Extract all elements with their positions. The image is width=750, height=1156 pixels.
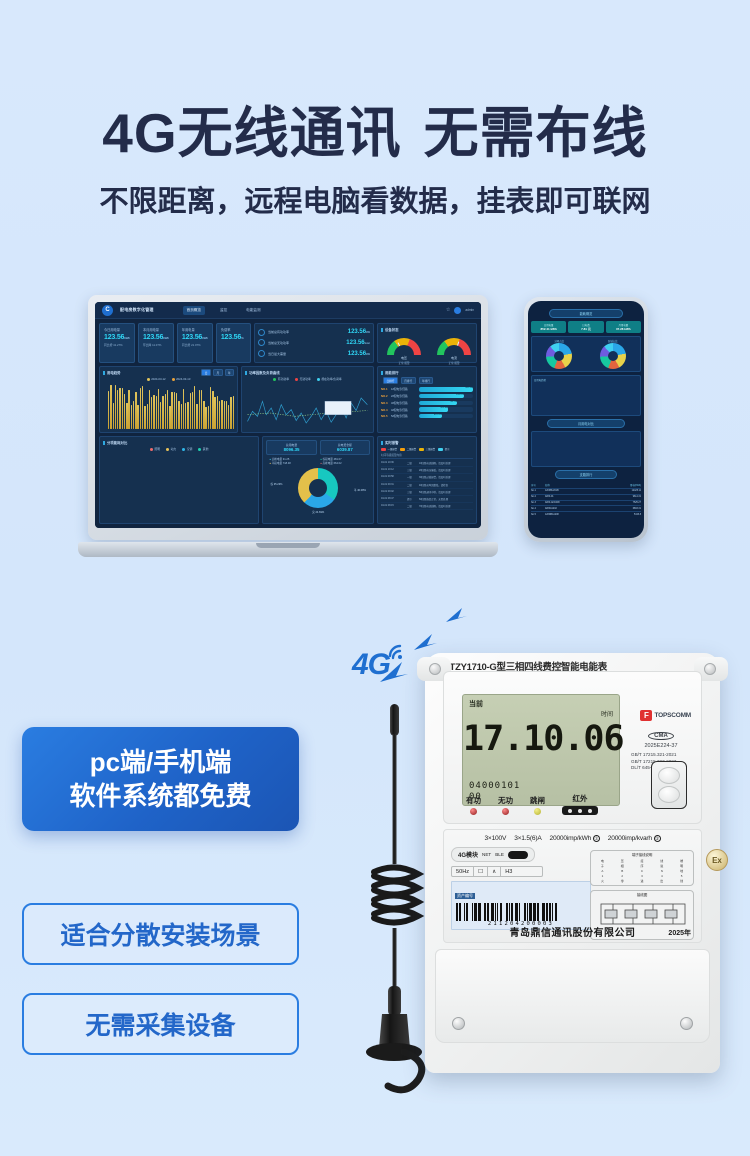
- module-label: 4G模块: [458, 850, 478, 859]
- bar: [167, 390, 168, 429]
- rank-name: 5#配电室/回路: [391, 414, 417, 418]
- table-row: 04-01 08:47提示6#回路恢复正常，无需处理: [381, 496, 473, 503]
- communication-module: 4G模块 NET BLE: [451, 847, 535, 862]
- meter-body: DTZY1710-G型三相四线费控智能电能表 当前 时间 17.10.06 04…: [425, 653, 720, 1073]
- bar: [156, 396, 157, 429]
- card-title: 实时报警: [381, 440, 473, 445]
- cert-number: 2025E224-37: [629, 743, 693, 749]
- rank-value: 7525.27: [615, 502, 641, 504]
- phone-table-body: No.11203BU201B12425.11No.202#F-019614.31…: [531, 488, 641, 517]
- kpi-title: 今日用电量: [104, 327, 130, 332]
- cover-screw: [452, 1017, 465, 1030]
- log-msg: 6#回路恢复正常，无需处理: [419, 497, 473, 501]
- phone-screen: 能耗概览 日用电量852.41 kWh 日电费7.81 元 月用电量37.28 …: [528, 301, 644, 538]
- chart-legend: 有功功率 无功功率 视在功率/负荷率: [245, 377, 370, 381]
- frequency: 50Hz: [452, 867, 474, 876]
- log-time: 04-01 09:02: [381, 490, 407, 494]
- indicator: 跳闸: [530, 795, 545, 815]
- standard-line: GB/T 17215.321-2021: [631, 752, 693, 759]
- rank-name: 2#配电室/回路: [391, 394, 417, 398]
- alarm-tag: 提示: [438, 447, 449, 451]
- ranking-card: 用能排行 日排行 月排行 年排行 NO.11#配电室/回路952.36NO.22…: [377, 366, 477, 433]
- barcode-icon: [455, 903, 587, 921]
- legend-item: 照明: [154, 447, 160, 451]
- terminal-title: 端子接线说明: [593, 853, 691, 858]
- table-row: 04-01 09:31二级4#回路功率因数低，请检查: [381, 482, 473, 489]
- rank-no: No.4: [531, 508, 545, 510]
- bar: [131, 405, 132, 429]
- log-msg: 2#回路电压偏低，请及时处理: [419, 468, 473, 472]
- rank-value: 5415.8: [615, 514, 641, 516]
- app-logo-text: 配电房数字化管理: [120, 307, 154, 313]
- spec-active-const: 20000imp/kWh: [550, 835, 592, 842]
- kpi-unit: kWh: [163, 336, 169, 340]
- phone-notch: [569, 304, 603, 309]
- led-active-icon: [470, 808, 477, 815]
- meter-button-panel[interactable]: [651, 761, 687, 809]
- bar: [133, 401, 134, 429]
- power-icon: [258, 329, 265, 336]
- callout-secondary-1: 适合分散安装场景: [22, 903, 299, 965]
- shield-icon: ☐: [474, 867, 488, 876]
- rank-bar-fill: 952.36: [419, 387, 473, 392]
- rank-bar: 522.40: [419, 407, 473, 412]
- bar: [122, 388, 123, 429]
- rank-name: 1#配电室/回路: [391, 387, 417, 391]
- log-level: 三级: [407, 468, 419, 472]
- bar: [219, 401, 220, 429]
- legend-item: 无功功率: [300, 377, 311, 381]
- meter-model-label: DTZY1710-G型三相四线费控智能电能表: [425, 653, 720, 673]
- bar: [187, 402, 188, 429]
- power-label: 当日最大需量: [268, 352, 345, 356]
- antenna-icon: ∧: [488, 867, 501, 876]
- poster-root: 4G无线通讯无需布线 不限距离，远程电脑看数据，挂表即可联网 C 配电房数字化管…: [0, 0, 750, 1156]
- dashboard-nav[interactable]: 首页概览 监控 电能监测: [183, 306, 265, 315]
- bar: [199, 390, 200, 429]
- kpi-value: 123.56: [104, 334, 124, 341]
- alarm-card: 实时报警 一级报警 二级报警 三级报警 提示 时间 等级: [377, 436, 477, 524]
- bar: [113, 403, 114, 429]
- bar: [124, 394, 125, 429]
- power-value: 123.56: [346, 340, 364, 346]
- dashboard-header-right: ☆ admin: [446, 307, 474, 314]
- meter-front-panel: 当前 时间 17.10.06 04000101 00 F TOPSCOMM CM…: [443, 671, 702, 824]
- net-led: NET: [482, 852, 491, 857]
- bar: [217, 396, 218, 429]
- rank-tools[interactable]: 日排行 月排行 年排行: [383, 377, 473, 384]
- rank-no: NO.3: [381, 401, 389, 405]
- load-curve-card: 功率因数及负荷曲线 有功功率 无功功率 视在功率/负荷率: [241, 366, 374, 433]
- kpi-value: 123.56: [182, 334, 202, 341]
- stacked-bar-chart: [103, 453, 255, 497]
- legend-item: 视在功率/负荷率: [321, 377, 341, 381]
- phone-kpi: 日电费7.81 元: [568, 321, 603, 333]
- headline-part-1: 4G无线通讯: [102, 102, 401, 164]
- bar: [181, 404, 182, 429]
- bar: [128, 390, 129, 429]
- lcd-main-value: 17.10.06: [463, 719, 615, 759]
- kpi-title: 负载率: [221, 327, 246, 332]
- phone-chart-card-2: [531, 431, 641, 467]
- gauge-group: 电压 正常 报警 电流 正常 报警: [381, 334, 477, 365]
- rank-bar-fill: 814.22: [419, 394, 464, 399]
- bar: [144, 406, 145, 429]
- chart-legend: 2024-03-12 2024-03-13: [103, 377, 234, 381]
- phone-donut-card: 分项占比 区域占比: [531, 336, 641, 372]
- brand-logo: F TOPSCOMM: [640, 710, 691, 721]
- seal-mark: Ex: [706, 849, 728, 871]
- spec-line: 3×100V 3×1.5(6)A 20000imp/kWh ① 20000imp…: [451, 835, 694, 842]
- bar: [210, 387, 211, 429]
- ble-led: BLE: [495, 852, 504, 857]
- bar: [194, 386, 195, 429]
- phone-chart-card-1: 日用电趋势: [531, 375, 641, 416]
- table-row: 04-01 10:12三级2#回路电压偏低，请及时处理: [381, 467, 473, 474]
- spec-reactive-mark: ②: [654, 835, 661, 842]
- fourg-label: 4G: [352, 648, 390, 682]
- kpi-card: 负载率 123.56%: [216, 323, 251, 363]
- chart-title: 日用电趋势: [534, 378, 638, 382]
- power-value: 123.56: [348, 329, 366, 335]
- callout-secondary-2: 无需采集设备: [22, 993, 299, 1055]
- led-trip-icon: [534, 808, 541, 815]
- gauge-legend-ok: 正常: [448, 362, 453, 365]
- dashboard-header: C 配电房数字化管理 首页概览 监控 电能监测 ☆ admin: [95, 302, 481, 319]
- manufacture-year: 2025年: [668, 928, 691, 938]
- chart-legend: 照明 动力 空调 其他: [103, 447, 255, 451]
- spec-reactive-const: 20000imp/kvarh: [608, 835, 652, 842]
- signal-arrow-icon: [446, 608, 467, 622]
- rank-name: 1203BU201B: [545, 490, 615, 492]
- rank-bar-fill: 418.05: [419, 414, 442, 419]
- card-title: 用能排行: [381, 370, 473, 375]
- pc-dashboard: C 配电房数字化管理 首页概览 监控 电能监测 ☆ admin: [95, 302, 481, 528]
- gauge: 电流 正常 报警: [437, 338, 471, 365]
- bar: [165, 394, 166, 429]
- power-summary-card: 当前总有功功率123.56kW 当前总无功功率123.56kvar 当日最大需量…: [254, 323, 374, 363]
- bar: [135, 392, 136, 429]
- rank-name: 12#DBA1208: [545, 514, 615, 516]
- log-level: 二级: [407, 461, 419, 465]
- phone-donut-chart: [600, 343, 626, 369]
- table-row: No.512#DBA12085415.8: [531, 511, 641, 517]
- log-level: 二级: [407, 483, 419, 487]
- cover-screw: [680, 1017, 693, 1030]
- rank-list: NO.11#配电室/回路952.36NO.22#配电室/回路814.22NO.3…: [381, 387, 473, 418]
- sum-item: ● 平段电量 718.48: [269, 461, 316, 465]
- bar: [151, 397, 152, 429]
- rank-tool-year[interactable]: 年排行: [419, 377, 434, 384]
- log-msg: 5#回路通讯中断，请及时处理: [419, 490, 473, 494]
- donut-chart: [298, 468, 338, 508]
- power-value: 123.56: [348, 351, 366, 357]
- device-status-card: 设备状态 电压 正常 报警 电流: [377, 323, 477, 363]
- rating-row: 50Hz ☐ ∧ H3: [451, 866, 543, 877]
- lower-row: 分项能耗对比 照明 动力 空调 其他: [99, 436, 477, 524]
- kpi-unit: kWh: [202, 336, 208, 340]
- bar: [108, 391, 109, 429]
- bar: [162, 396, 163, 429]
- log-msg: 3#回路过载报警，请及时处理: [419, 475, 473, 479]
- bar: [224, 401, 225, 429]
- alarm-tag: 一级报警: [381, 447, 397, 451]
- phone-kpi-row: 日用电量852.41 kWh 日电费7.81 元 月用电量37.28 kWh: [531, 321, 641, 333]
- laptop-lid: C 配电房数字化管理 首页概览 监控 电能监测 ☆ admin: [88, 295, 488, 540]
- infrared-port: 红外: [562, 793, 598, 815]
- bar: [185, 403, 186, 429]
- tab-energy[interactable]: 电能监测: [242, 306, 264, 315]
- page-subtitle: 不限距离，远程电脑看数据，挂表即可联网: [0, 178, 750, 220]
- rank-bar: 418.05: [419, 414, 473, 419]
- bar: [140, 388, 141, 429]
- indicator-row: 有功 无功 跳闸 红外: [466, 793, 598, 815]
- phone-page-title: 能耗概览: [549, 309, 623, 318]
- sum-card: 总用电量 8096.35: [266, 440, 316, 455]
- legend-item: 其他: [203, 447, 209, 451]
- rank-bar: 952.36: [419, 387, 473, 392]
- donut-label: 平 40.08%: [354, 488, 366, 492]
- kpi-value: 123.56: [143, 334, 163, 341]
- bar-chart: [103, 383, 234, 429]
- bar: [110, 385, 111, 429]
- log-level: 三级: [407, 490, 419, 494]
- led-reactive-icon: [502, 808, 509, 815]
- phone-bar-chart: [534, 383, 638, 413]
- power-unit: kvar: [365, 342, 370, 345]
- donut-label: 尖 24.69%: [312, 510, 324, 514]
- rank-bar-fill: 522.40: [419, 407, 448, 412]
- gauge-legend-alarm: 报警: [404, 362, 409, 365]
- rank-tool-month[interactable]: 月排行: [401, 377, 416, 384]
- log-time: 04-01 09:58: [381, 475, 407, 479]
- rank-value: 6803.31: [615, 508, 641, 510]
- terminal-cover: [435, 949, 710, 1043]
- bar: [212, 391, 213, 429]
- bar: [205, 407, 206, 430]
- legend-item: 2024-03-12: [151, 377, 165, 381]
- module-connector-icon: [508, 851, 528, 859]
- log-time: 04-01 10:12: [381, 468, 407, 472]
- rank-row: NO.11#配电室/回路952.36: [381, 387, 473, 392]
- table-row: 04-01 10:36二级1#回路电流越限，请及时处理: [381, 460, 473, 467]
- rank-no: No.1: [531, 490, 545, 492]
- callout-primary-line1: pc端/手机端: [90, 745, 232, 779]
- card-title: 分项能耗对比: [103, 440, 255, 445]
- phone-section-title: 月用电对比: [547, 419, 625, 428]
- bar: [153, 395, 154, 429]
- legend-item: 有功功率: [278, 377, 289, 381]
- table-row: 04-01 09:02三级5#回路通讯中断，请及时处理: [381, 489, 473, 496]
- power-icon: [258, 350, 265, 357]
- page-title: 4G无线通讯无需布线: [0, 88, 750, 168]
- bar: [183, 389, 184, 429]
- rank-no: NO.4: [381, 408, 389, 412]
- log-time: 04-01 08:47: [381, 497, 407, 501]
- rank-name: 4#配电室/回路: [391, 408, 417, 412]
- bar: [233, 396, 234, 429]
- rank-row: NO.44#配电室/回路522.40: [381, 407, 473, 412]
- rank-row: NO.22#配电室/回路814.22: [381, 394, 473, 399]
- manufacturer-name: 青岛鼎信通讯股份有限公司: [444, 924, 701, 939]
- rank-bar: 814.22: [419, 394, 473, 399]
- meter-button-down[interactable]: [658, 786, 680, 803]
- bar: [115, 385, 116, 429]
- spec-active-mark: ①: [593, 835, 600, 842]
- callout-primary: pc端/手机端 软件系统都免费: [22, 727, 299, 831]
- bar: [171, 392, 172, 429]
- alarm-tag: 二级报警: [400, 447, 416, 451]
- log-level: 提示: [407, 497, 419, 501]
- bar: [201, 390, 202, 429]
- bar: [178, 401, 179, 429]
- lcd-time-label: 时间: [601, 709, 613, 718]
- tab-monitor[interactable]: 监控: [216, 306, 231, 315]
- gauge-name: 电流: [451, 356, 457, 360]
- kpi-status: 同比增 21.07%: [182, 343, 208, 347]
- usage-trend-card: 用电趋势 日 月 年 2024-03-12 2024-03-13: [99, 366, 238, 433]
- user-name: admin: [465, 308, 474, 312]
- tool-year[interactable]: 年: [225, 369, 235, 376]
- tool-day[interactable]: 日: [201, 369, 211, 376]
- cma-mark: CMA: [648, 732, 674, 740]
- table-row: 04-01 09:58一级3#回路过载报警，请及时处理: [381, 474, 473, 481]
- smartphone-device: 能耗概览 日用电量852.41 kWh 日电费7.81 元 月用电量37.28 …: [524, 297, 648, 542]
- laptop-device: C 配电房数字化管理 首页概览 监控 电能监测 ☆ admin: [78, 295, 498, 557]
- kpi-value: 123.56: [221, 334, 241, 341]
- kpi-card: 今日用电量 123.56kWh 同比增 41.27%: [99, 323, 135, 363]
- bar: [214, 397, 215, 429]
- barcode-title: 资产编号: [455, 893, 475, 899]
- alarm-table-body: 04-01 10:36二级1#回路电流越限，请及时处理04-01 10:12三级…: [381, 460, 473, 510]
- log-msg: 7#回路电流越限，请及时处理: [419, 504, 473, 508]
- antenna-graphic: [330, 700, 440, 1120]
- power-label: 当前总无功功率: [268, 341, 343, 345]
- brand-name: TOPSCOMM: [654, 712, 691, 719]
- log-time: 04-01 08:15: [381, 504, 407, 508]
- rank-name: 02#F-01: [545, 496, 615, 498]
- tab-overview[interactable]: 首页概览: [183, 306, 205, 315]
- power-label: 当前总有功功率: [268, 330, 345, 334]
- rank-tool-day[interactable]: 日排行: [383, 377, 398, 384]
- kpi-row: 今日用电量 123.56kWh 同比增 41.27% 本月用电量 123.56k…: [99, 323, 477, 363]
- rank-no: No.2: [531, 496, 545, 498]
- headline-part-2: 无需布线: [424, 102, 648, 164]
- lcd-display: 当前 时间 17.10.06 04000101 00: [462, 694, 620, 806]
- category-compare-card: 分项能耗对比 照明 动力 空调 其他: [99, 436, 259, 524]
- bar: [190, 393, 191, 429]
- alarm-tags[interactable]: 一级报警 二级报警 三级报警 提示: [381, 447, 473, 451]
- kpi-unit: %: [241, 336, 243, 340]
- avatar[interactable]: [454, 307, 461, 314]
- alarm-tag: 三级报警: [419, 447, 435, 451]
- log-level: 一级: [407, 475, 419, 479]
- bell-icon[interactable]: ☆: [446, 307, 450, 313]
- ir-port-icon: [562, 806, 598, 815]
- bar: [176, 393, 177, 429]
- bar: [142, 386, 143, 429]
- line-chart: [245, 383, 370, 433]
- card-title: 功率因数及负荷曲线: [245, 370, 370, 375]
- donut-label: 谷 35.23%: [270, 482, 282, 486]
- rank-no: No.5: [531, 514, 545, 516]
- bar: [158, 389, 159, 429]
- sum-value: 6039.87: [337, 447, 353, 452]
- rank-row: NO.55#配电室/回路418.05: [381, 414, 473, 419]
- bar: [196, 404, 197, 429]
- rank-value: 9614.31: [615, 496, 641, 498]
- spec-current: 3×1.5(6)A: [514, 835, 541, 842]
- kpi-status: 同比增 41.27%: [104, 343, 130, 347]
- tool-month[interactable]: 月: [213, 369, 223, 376]
- kpi-card: 本月用电量 123.56kWh 环比降 11.07%: [138, 323, 174, 363]
- spec-voltage: 3×100V: [484, 835, 506, 842]
- electricity-meter: DTZY1710-G型三相四线费控智能电能表 当前 时间 17.10.06 04…: [425, 653, 720, 1073]
- log-msg: 1#回路电流越限，请及时处理: [419, 461, 473, 465]
- gauge-name: 电压: [401, 356, 407, 360]
- kpi-card: 年用电量 123.56kWh 同比增 21.07%: [177, 323, 213, 363]
- sum-card: 总电费金额 6039.87: [320, 440, 370, 455]
- lcd-current-label: 当前: [469, 699, 613, 709]
- chart-tools[interactable]: 日 月 年: [201, 369, 234, 376]
- phone-rank-title: 支路排行: [555, 470, 617, 479]
- phone-kpi: 月用电量37.28 kWh: [606, 321, 641, 333]
- kpi-unit: kWh: [124, 336, 130, 340]
- class-mark: H3: [501, 867, 516, 876]
- callout-primary-line2: 软件系统都免费: [69, 779, 251, 813]
- lcd-code-line: 04000101: [469, 781, 520, 791]
- rank-no: NO.5: [381, 414, 389, 418]
- power-icon: [258, 339, 265, 346]
- gauge-legend-ok: 正常: [398, 362, 403, 365]
- brand-mark-icon: F: [640, 710, 652, 721]
- kpi-cards: 今日用电量 123.56kWh 同比增 41.27% 本月用电量 123.56k…: [99, 323, 251, 363]
- meter-spec-panel: 3×100V 3×1.5(6)A 20000imp/kWh ① 20000imp…: [443, 829, 702, 943]
- barcode-label: 资产编号 211204200003: [451, 881, 591, 930]
- rank-name: 02#F-AKD408: [545, 502, 615, 504]
- meter-screw: [704, 663, 716, 675]
- indicator: 有功: [466, 795, 481, 815]
- bar: [149, 390, 150, 429]
- bar: [174, 392, 175, 429]
- card-title: 设备状态: [381, 327, 473, 332]
- kpi-status: 环比降 11.07%: [143, 343, 169, 347]
- rank-name: 3#配电室/回路: [391, 401, 417, 405]
- table-row: 04-01 08:15二级7#回路电流越限，请及时处理: [381, 503, 473, 510]
- rank-no: No.3: [531, 502, 545, 504]
- indicator: 无功: [498, 795, 513, 815]
- rank-name: 02#FA1202: [545, 508, 615, 510]
- kpi-title: 年用电量: [182, 327, 208, 332]
- log-level: 二级: [407, 504, 419, 508]
- meter-button-up[interactable]: [658, 767, 680, 784]
- power-unit: kW: [366, 331, 370, 334]
- rank-value: 12425.11: [615, 490, 641, 492]
- alarm-table-header: 时间 等级 报警内容: [381, 453, 473, 459]
- bar: [169, 406, 170, 429]
- kpi-title: 本月用电量: [143, 327, 169, 332]
- legend-item: 2024-03-13: [176, 377, 190, 381]
- bar: [126, 403, 127, 429]
- bar: [230, 397, 231, 429]
- meter-screw: [429, 663, 441, 675]
- rank-bar: 703.18: [419, 401, 473, 406]
- legend-item: 动力: [171, 447, 177, 451]
- phone-bar-chart: [534, 434, 638, 464]
- bar: [147, 404, 148, 429]
- sum-item: ● 高峰电量 664.02: [320, 461, 367, 465]
- rank-bar-fill: 703.18: [419, 401, 457, 406]
